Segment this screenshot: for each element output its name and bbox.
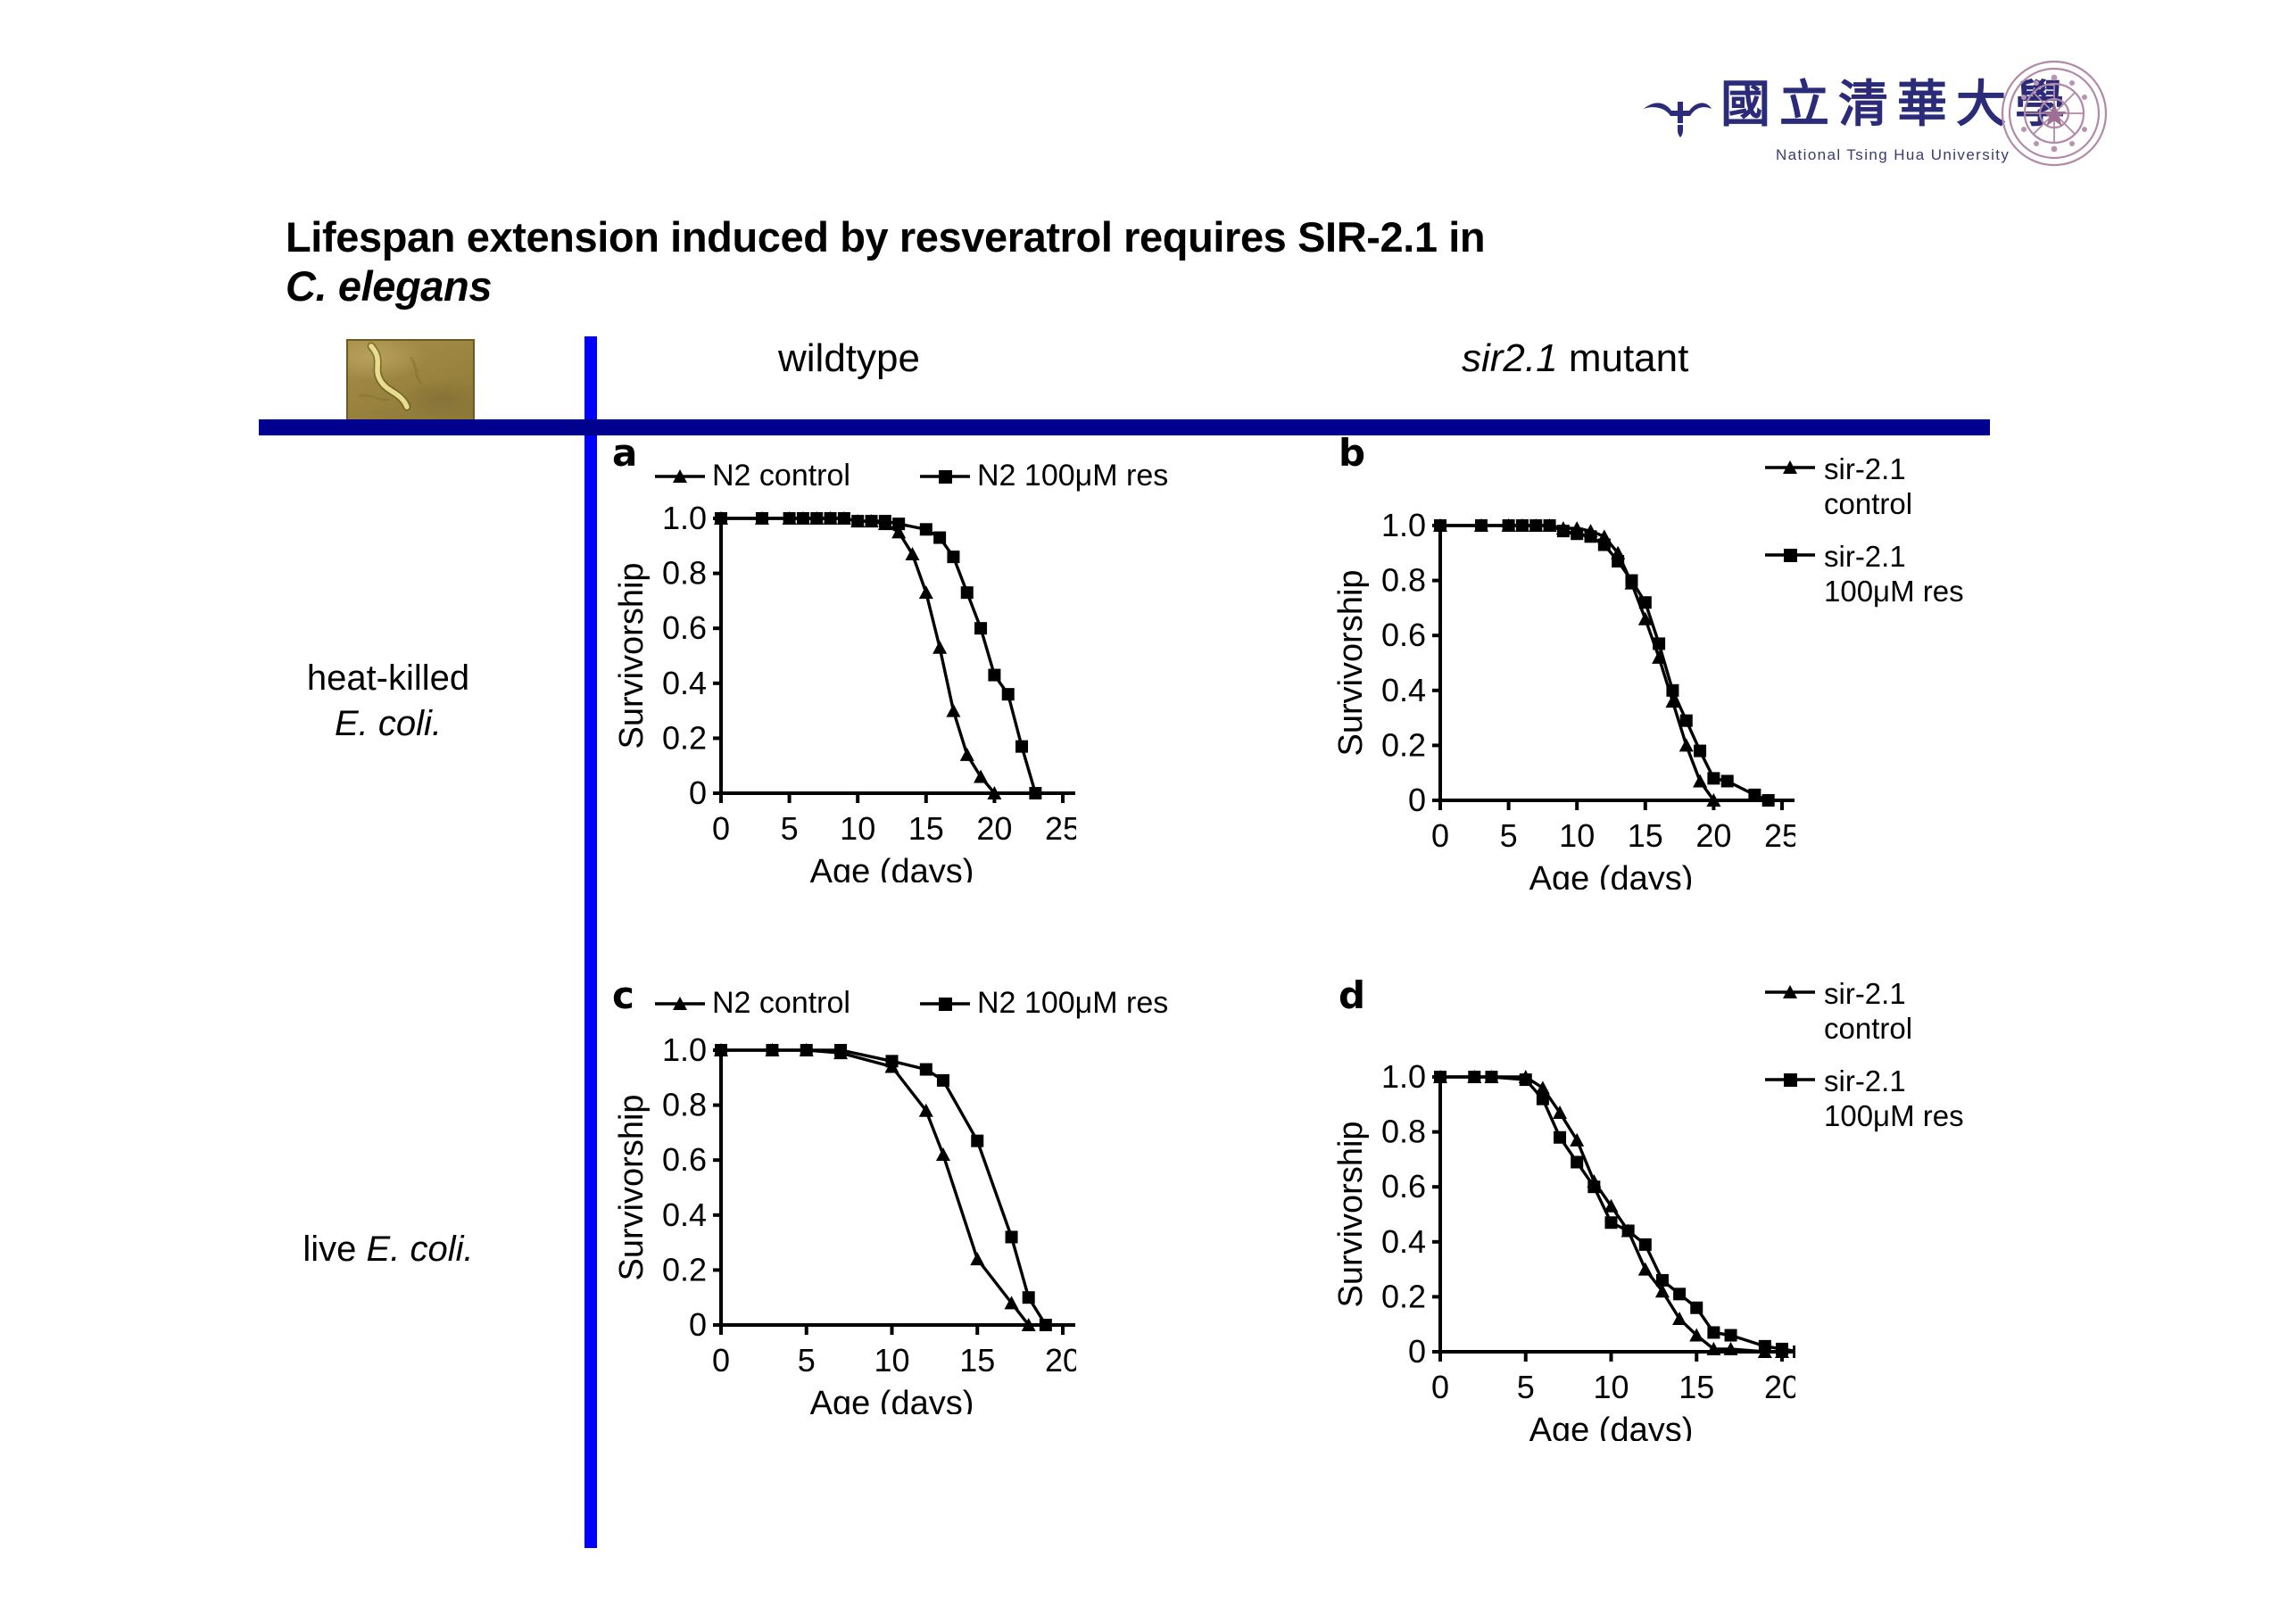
svg-text:0.6: 0.6 xyxy=(1381,1168,1426,1205)
figure-panel-b: b sir-2.1 control sir-2.1 100μM res 00.2… xyxy=(1339,435,2035,970)
svg-text:5: 5 xyxy=(798,1342,816,1379)
svg-text:0.2: 0.2 xyxy=(662,1251,707,1288)
svg-text:0: 0 xyxy=(1408,782,1426,818)
svg-text:20: 20 xyxy=(1764,1369,1795,1405)
svg-text:0.6: 0.6 xyxy=(1381,617,1426,653)
svg-text:1.0: 1.0 xyxy=(1381,507,1426,543)
svg-text:15: 15 xyxy=(1628,817,1663,854)
svg-text:1.0: 1.0 xyxy=(662,500,707,536)
legend-b-label-2: sir-2.1 100μM res xyxy=(1824,540,1964,609)
legend-c-series-1: N2 control xyxy=(655,986,850,1021)
legend-b-gene-1: sir-2.1 xyxy=(1824,452,1912,487)
svg-text:0: 0 xyxy=(712,810,730,847)
row-label-2-italic: E. coli. xyxy=(367,1230,474,1269)
svg-text:20: 20 xyxy=(976,810,1012,847)
column-header-wildtype: wildtype xyxy=(778,336,920,381)
row-label-2-plain: live xyxy=(303,1230,366,1269)
svg-text:Age (days): Age (days) xyxy=(810,853,974,882)
legend-a-label-2: N2 100μM res xyxy=(977,459,1168,493)
legend-triangle-marker-icon xyxy=(655,467,705,486)
title-line-2: C. elegans xyxy=(286,261,1981,311)
panel-letter-c: c xyxy=(612,977,634,1014)
legend-c-label-1: N2 control xyxy=(712,986,850,1021)
row-label-2-wrap: live E. coli. xyxy=(219,1227,558,1272)
legend-c-series-2: N2 100μM res xyxy=(920,986,1168,1021)
svg-text:0.6: 0.6 xyxy=(662,1141,707,1178)
legend-d-gene-2: sir-2.1 xyxy=(1824,1064,1964,1099)
legend-c-label-2: N2 100μM res xyxy=(977,986,1168,1021)
svg-text:Age (days): Age (days) xyxy=(810,1385,974,1414)
chart-d-plot: 00.20.40.60.81.005101520Age (days)Surviv… xyxy=(1331,1057,1795,1441)
legend-b-gene-2: sir-2.1 xyxy=(1824,540,1964,575)
svg-text:0.2: 0.2 xyxy=(1381,726,1426,763)
legend-triangle-marker-icon xyxy=(1765,977,1815,1007)
svg-text:0.2: 0.2 xyxy=(1381,1278,1426,1314)
vertical-divider xyxy=(584,336,597,1548)
svg-text:10: 10 xyxy=(840,810,875,847)
svg-text:0.8: 0.8 xyxy=(1381,562,1426,599)
legend-triangle-marker-icon xyxy=(655,994,705,1014)
university-logo: 國立清華大學 National Tsing Hua University xyxy=(1642,54,2177,178)
svg-text:10: 10 xyxy=(1559,817,1595,854)
row-label-1-line-1: heat-killed xyxy=(219,656,558,701)
logo-english-name: National Tsing Hua University xyxy=(1776,146,2010,164)
svg-text:15: 15 xyxy=(908,810,944,847)
figure-panel-a: a N2 control N2 100μM res 00.20.40.60.81… xyxy=(612,435,1272,970)
legend-d-cond-1: control xyxy=(1824,1012,1912,1047)
svg-text:Age (days): Age (days) xyxy=(1529,860,1694,890)
legend-a-label-1: N2 control xyxy=(712,459,850,493)
page-title: Lifespan extension induced by resveratro… xyxy=(286,212,1981,311)
legend-d-series-1: sir-2.1 control xyxy=(1765,977,1964,1047)
svg-text:5: 5 xyxy=(781,810,799,847)
svg-text:15: 15 xyxy=(1678,1369,1714,1405)
chart-c-plot: 00.20.40.60.81.005101520Age (days)Surviv… xyxy=(612,1031,1076,1414)
svg-text:0.6: 0.6 xyxy=(662,609,707,646)
legend-b-cond-2: 100μM res xyxy=(1824,575,1964,609)
svg-text:0: 0 xyxy=(712,1342,730,1379)
legend-d-label-2: sir-2.1 100μM res xyxy=(1824,1064,1964,1134)
legend-a-series-2: N2 100μM res xyxy=(920,459,1168,493)
svg-text:0.4: 0.4 xyxy=(662,1197,707,1233)
legend-square-marker-icon xyxy=(920,467,970,486)
title-line-1: Lifespan extension induced by resveratro… xyxy=(286,213,1485,261)
column-header-wildtype-label: wildtype xyxy=(778,336,920,380)
column-header-mutant-word: mutant xyxy=(1558,336,1689,380)
svg-text:1.0: 1.0 xyxy=(662,1031,707,1068)
chart-a-plot: 00.20.40.60.81.00510152025Age (days)Surv… xyxy=(612,499,1076,882)
row-label-1-line-2: E. coli. xyxy=(219,701,558,747)
university-seal-icon xyxy=(1997,56,2111,170)
c-elegans-micrograph xyxy=(346,339,475,426)
chart-b-plot: 00.20.40.60.81.00510152025Age (days)Surv… xyxy=(1331,506,1795,890)
figure-panel-d: d sir-2.1 control sir-2.1 100μM res 00.2… xyxy=(1339,977,2035,1530)
legend-a-series-1: N2 control xyxy=(655,459,850,493)
svg-text:Survivorship: Survivorship xyxy=(613,562,651,749)
worm-outline-icon xyxy=(348,341,473,424)
svg-text:0: 0 xyxy=(1408,1333,1426,1370)
svg-text:25: 25 xyxy=(1045,810,1076,847)
svg-text:0: 0 xyxy=(689,1306,707,1343)
svg-text:10: 10 xyxy=(1593,1369,1629,1405)
legend-b-label-1: sir-2.1 control xyxy=(1824,452,1912,522)
row-label-heat-killed-ecoli: heat-killed E. coli. xyxy=(219,656,558,747)
svg-text:0.4: 0.4 xyxy=(1381,672,1426,708)
svg-text:0: 0 xyxy=(1431,817,1449,854)
panel-letter-b: b xyxy=(1339,435,1365,472)
svg-text:10: 10 xyxy=(874,1342,909,1379)
legend-triangle-marker-icon xyxy=(1765,452,1815,483)
column-header-gene-name: sir2.1 xyxy=(1462,336,1558,380)
svg-text:0.2: 0.2 xyxy=(662,719,707,756)
svg-text:1.0: 1.0 xyxy=(1381,1058,1426,1095)
legend-square-marker-icon xyxy=(920,994,970,1014)
legend-d-cond-2: 100μM res xyxy=(1824,1099,1964,1134)
svg-text:25: 25 xyxy=(1764,817,1795,854)
svg-text:Survivorship: Survivorship xyxy=(1332,569,1370,756)
horizontal-divider xyxy=(259,419,1990,435)
svg-text:15: 15 xyxy=(959,1342,995,1379)
svg-text:5: 5 xyxy=(1500,817,1518,854)
column-header-sir2-mutant: sir2.1 mutant xyxy=(1462,336,1688,381)
svg-text:Survivorship: Survivorship xyxy=(613,1094,651,1280)
svg-text:0: 0 xyxy=(689,774,707,811)
legend-d-label-1: sir-2.1 control xyxy=(1824,977,1912,1047)
svg-text:20: 20 xyxy=(1045,1342,1076,1379)
figure-panel-c: c N2 control N2 100μM res 00.20.40.60.81… xyxy=(612,977,1272,1530)
svg-text:0.8: 0.8 xyxy=(1381,1114,1426,1150)
svg-text:0.8: 0.8 xyxy=(662,1087,707,1123)
svg-text:5: 5 xyxy=(1517,1369,1535,1405)
svg-text:0.4: 0.4 xyxy=(662,665,707,701)
row-label-live-ecoli: live E. coli. xyxy=(219,1227,558,1272)
svg-text:0.4: 0.4 xyxy=(1381,1223,1426,1260)
svg-text:Age (days): Age (days) xyxy=(1529,1412,1694,1441)
panel-letter-a: a xyxy=(612,435,637,472)
svg-text:20: 20 xyxy=(1695,817,1731,854)
svg-text:Survivorship: Survivorship xyxy=(1332,1121,1370,1307)
thu-wing-mark-icon xyxy=(1642,96,1713,137)
panel-letter-d: d xyxy=(1339,977,1365,1014)
legend-d-gene-1: sir-2.1 xyxy=(1824,977,1912,1012)
svg-text:0.8: 0.8 xyxy=(662,555,707,592)
svg-text:0: 0 xyxy=(1431,1369,1449,1405)
legend-b-cond-1: control xyxy=(1824,487,1912,522)
